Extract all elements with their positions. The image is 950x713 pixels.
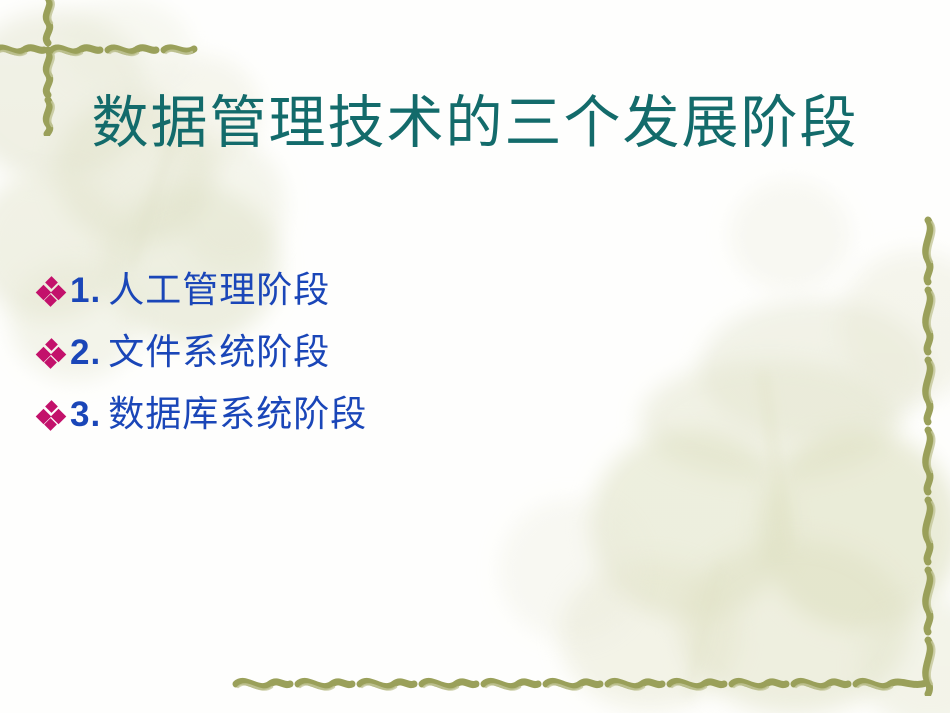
watermark-blob: [680, 540, 910, 713]
watermark-blob: [840, 250, 950, 400]
list-item[interactable]: 3.数据库系统阶段: [36, 392, 676, 454]
watermark-blob: [760, 430, 950, 630]
presentation-slide: 数据管理技术的三个发展阶段 1.人工管理阶段 2.文件系统阶段 3.数据库系统阶…: [0, 0, 950, 713]
watermark-blob: [175, 140, 285, 270]
list-item-number: 3.: [70, 395, 101, 434]
diamond-cluster-bullet-icon: [36, 339, 70, 373]
watermark-blob: [700, 300, 930, 440]
list-item[interactable]: 2.文件系统阶段: [36, 330, 676, 392]
list-item-label: 文件系统阶段: [108, 332, 330, 372]
watermark-blob: [500, 500, 640, 640]
bamboo-bottom-line-icon: [232, 662, 932, 706]
list-item-label: 人工管理阶段: [108, 270, 330, 310]
list-item[interactable]: 1.人工管理阶段: [36, 268, 676, 330]
watermark-blob: [860, 600, 950, 713]
list-item-text: 2.文件系统阶段: [70, 330, 330, 375]
slide-title: 数据管理技术的三个发展阶段: [0, 92, 950, 156]
watermark-stem: [683, 561, 725, 699]
watermark-blob: [60, 0, 190, 90]
bullet-list: 1.人工管理阶段 2.文件系统阶段 3.数据库系统阶段: [36, 268, 676, 454]
list-item-text: 3.数据库系统阶段: [70, 392, 367, 437]
bamboo-right-stem-icon: [908, 216, 950, 696]
diamond-cluster-bullet-icon: [36, 401, 70, 435]
watermark-blob: [640, 360, 900, 480]
list-item-number: 2.: [70, 333, 101, 372]
watermark-blob: [560, 560, 740, 710]
list-item-label: 数据库系统阶段: [108, 394, 367, 434]
bamboo-cross-horizontal-icon: [0, 28, 204, 72]
list-item-number: 1.: [70, 271, 101, 310]
watermark-blob: [590, 430, 790, 620]
watermark-blob: [730, 180, 850, 290]
list-item-text: 1.人工管理阶段: [70, 268, 330, 313]
watermark-stem: [758, 370, 793, 550]
diamond-cluster-bullet-icon: [36, 277, 70, 311]
